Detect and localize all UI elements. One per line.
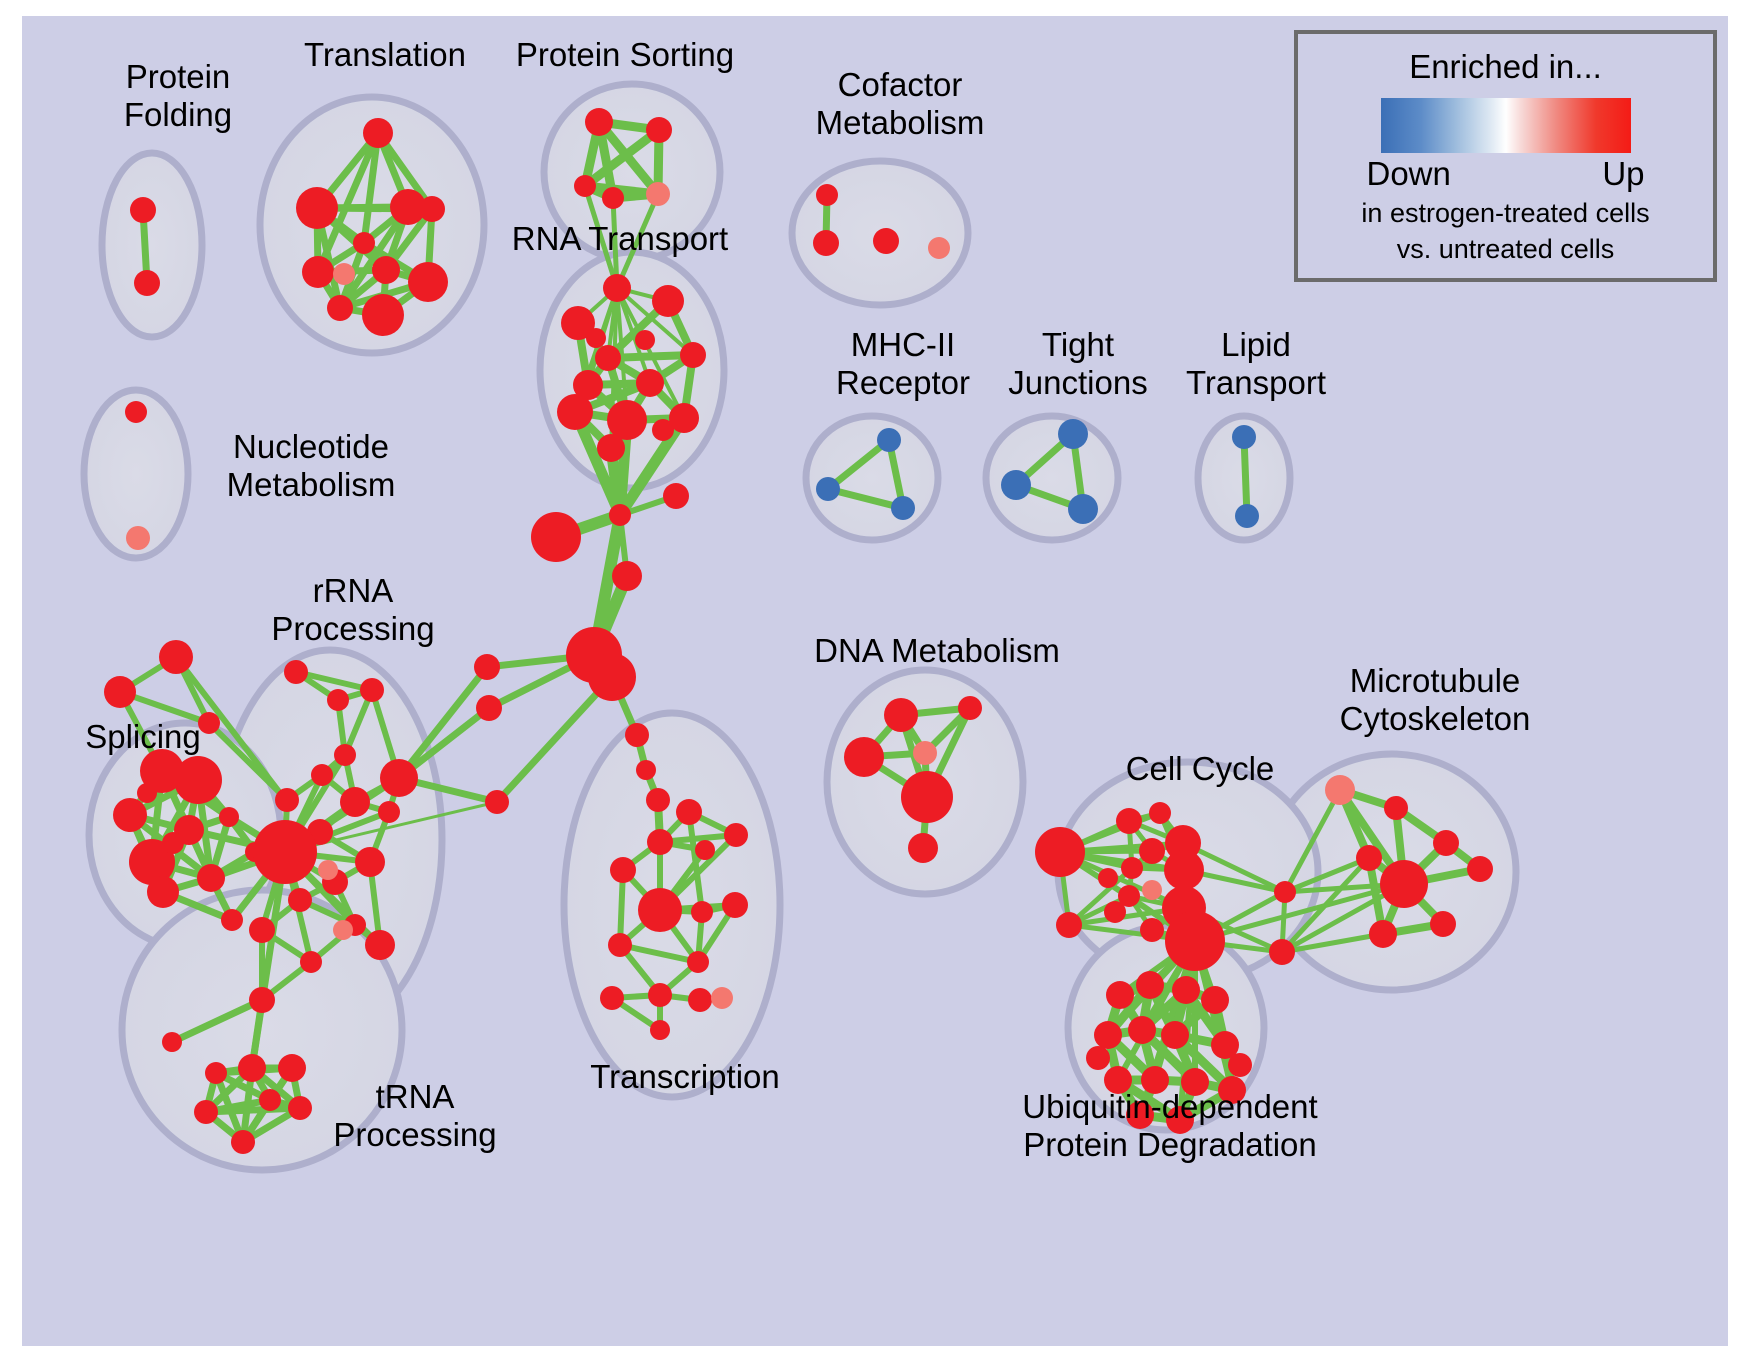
legend-box: Enriched in... Down Up in estrogen-treat… [1294,30,1717,282]
cluster-label-protein-sorting: Protein Sorting [500,36,750,74]
cluster-label-ubiquitin-protein-degradation: Ubiquitin-dependent Protein Degradation [990,1088,1350,1164]
cluster-label-rrna-processing: rRNA Processing [248,572,458,648]
legend-color-gradient [1381,98,1631,153]
figure-canvas: Protein Folding Translation Protein Sort… [0,0,1750,1360]
cluster-label-cell-cycle: Cell Cycle [1100,750,1300,788]
cluster-label-tight-junctions: Tight Junctions [978,326,1178,402]
cluster-label-microtubule-cytoskeleton: Microtubule Cytoskeleton [1300,662,1570,738]
cluster-label-mhc-ii-receptor: MHC-II Receptor [798,326,1008,402]
cluster-label-splicing: Splicing [58,718,228,756]
cluster-label-trna-processing: tRNA Processing [310,1078,520,1154]
cluster-label-protein-folding: Protein Folding [78,58,278,134]
cluster-label-dna-metabolism: DNA Metabolism [812,632,1062,670]
cluster-label-translation: Translation [280,36,490,74]
legend-low-label: Down [1367,155,1451,193]
cluster-label-rna-transport: RNA Transport [500,220,740,258]
cluster-label-cofactor-metabolism: Cofactor Metabolism [790,66,1010,142]
cluster-label-lipid-transport: Lipid Transport [1156,326,1356,402]
cluster-label-transcription: Transcription [570,1058,800,1096]
legend-high-label: Up [1602,155,1644,193]
legend-caption-line2: vs. untreated cells [1298,233,1713,265]
legend-endpoints: Down Up [1367,155,1645,193]
hull-protein-folding [102,153,202,337]
cluster-label-nucleotide-metabolism: Nucleotide Metabolism [196,428,426,504]
legend-caption-line1: in estrogen-treated cells [1298,197,1713,229]
legend-title: Enriched in... [1298,48,1713,86]
